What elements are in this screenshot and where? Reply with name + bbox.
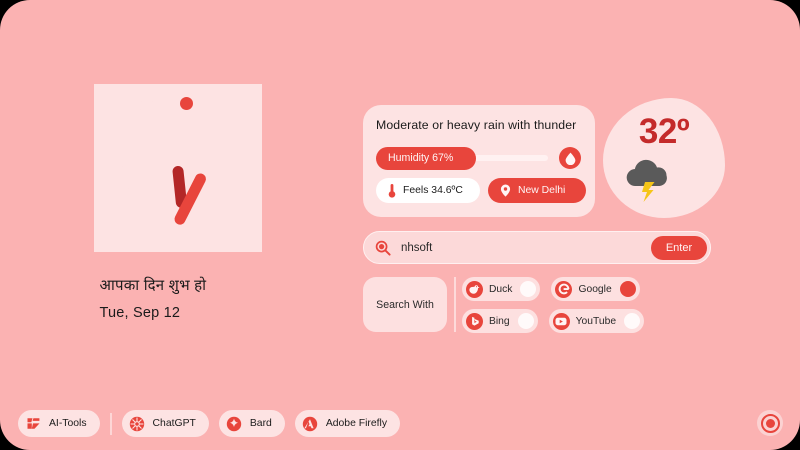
search-engine-knob[interactable]: [624, 313, 640, 329]
search-with-panel: Search With: [363, 277, 447, 332]
search-engine-list: Duck Google Bing: [462, 277, 714, 333]
feels-like-chip[interactable]: Feels 34.6ºC: [376, 178, 480, 203]
tool-label: Adobe Firefly: [326, 418, 387, 429]
weather-condition-text: Moderate or heavy rain with thunder: [376, 118, 582, 132]
search-engine-knob[interactable]: [520, 281, 536, 297]
search-engine-knob[interactable]: [518, 313, 534, 329]
youtube-icon: [553, 313, 570, 330]
weather-chips-row: Feels 34.6ºC New Delhi: [376, 178, 586, 203]
bard-icon: [226, 415, 243, 432]
search-engine-toggle-google[interactable]: Google: [551, 277, 639, 301]
tool-label: AI-Tools: [49, 418, 87, 429]
greeting-text: आपका दिन शुभ हो: [100, 276, 262, 296]
clock-face: [94, 84, 262, 252]
humidity-label: Humidity 67%: [388, 152, 453, 164]
record-core: [766, 419, 775, 428]
clock-panel: आपका दिन शुभ हो Tue, Sep 12: [0, 84, 355, 321]
search-engine-label: Bing: [489, 316, 510, 327]
record-icon: [761, 414, 780, 433]
google-icon: [555, 281, 572, 298]
toolbar-divider: [110, 413, 112, 435]
bard-spark-glyph: [226, 416, 242, 432]
google-g-glyph: [558, 283, 570, 295]
tool-label: Bard: [250, 418, 272, 429]
ai-tools-glyph: [26, 416, 41, 431]
search-engine-label: YouTube: [576, 316, 616, 327]
temperature-widget: 32º: [603, 98, 725, 218]
greeting-block: आपका दिन शुभ हो Tue, Sep 12: [94, 276, 262, 321]
date-text: Tue, Sep 12: [100, 305, 262, 321]
search-engine-toggle-bing[interactable]: Bing: [462, 309, 538, 333]
search-engine-toggle-youtube[interactable]: YouTube: [549, 309, 644, 333]
thunderstorm-cloud-icon: [621, 156, 675, 202]
adobe-firefly-glyph: [302, 416, 318, 432]
analog-clock-widget[interactable]: [94, 84, 262, 252]
search-engine-toggle-duck[interactable]: Duck: [462, 277, 540, 301]
youtube-glyph: [555, 317, 567, 326]
humidity-fill: Humidity 67%: [376, 147, 476, 170]
water-drop-icon[interactable]: [559, 147, 581, 169]
location-label: New Delhi: [518, 185, 565, 196]
search-with-label: Search With: [376, 299, 434, 311]
engine-divider: [454, 277, 456, 332]
search-input[interactable]: [401, 242, 651, 254]
tool-pill-ai-tools[interactable]: AI-Tools: [18, 410, 100, 437]
search-icon[interactable]: [375, 240, 391, 256]
map-pin-icon: [500, 184, 511, 197]
tool-label: ChatGPT: [153, 418, 196, 429]
ai-tools-icon: [25, 415, 42, 432]
record-button[interactable]: [757, 410, 783, 436]
chatgpt-glyph: [129, 416, 145, 432]
search-engine-label: Duck: [489, 284, 512, 295]
search-engine-knob[interactable]: [620, 281, 636, 297]
chatgpt-icon: [129, 415, 146, 432]
temperature-value: 32º: [603, 112, 725, 152]
duckduckgo-icon: [466, 281, 483, 298]
tool-pill-adobe-firefly[interactable]: Adobe Firefly: [295, 410, 400, 437]
bottom-toolbar: AI-Tools: [18, 410, 400, 437]
adobe-firefly-icon: [302, 415, 319, 432]
clock-center-dot: [180, 97, 193, 110]
humidity-row: Humidity 67%: [376, 146, 582, 170]
feels-like-label: Feels 34.6ºC: [403, 185, 463, 196]
weather-card: Moderate or heavy rain with thunder Humi…: [363, 105, 595, 217]
bing-glyph: [469, 316, 480, 327]
humidity-slider[interactable]: Humidity 67%: [376, 147, 548, 170]
bing-icon: [466, 313, 483, 330]
location-chip[interactable]: New Delhi: [488, 178, 586, 203]
search-bar[interactable]: Enter: [363, 231, 711, 264]
water-drop-glyph: [565, 152, 576, 165]
duck-glyph: [469, 284, 480, 295]
app-window: आपका दिन शुभ हो Tue, Sep 12 Moderate or …: [0, 0, 800, 450]
thermometer-icon: [388, 184, 396, 198]
tool-pill-bard[interactable]: Bard: [219, 410, 285, 437]
search-enter-button[interactable]: Enter: [651, 236, 707, 260]
tool-pill-chatgpt[interactable]: ChatGPT: [122, 410, 209, 437]
search-engine-label: Google: [578, 284, 611, 295]
